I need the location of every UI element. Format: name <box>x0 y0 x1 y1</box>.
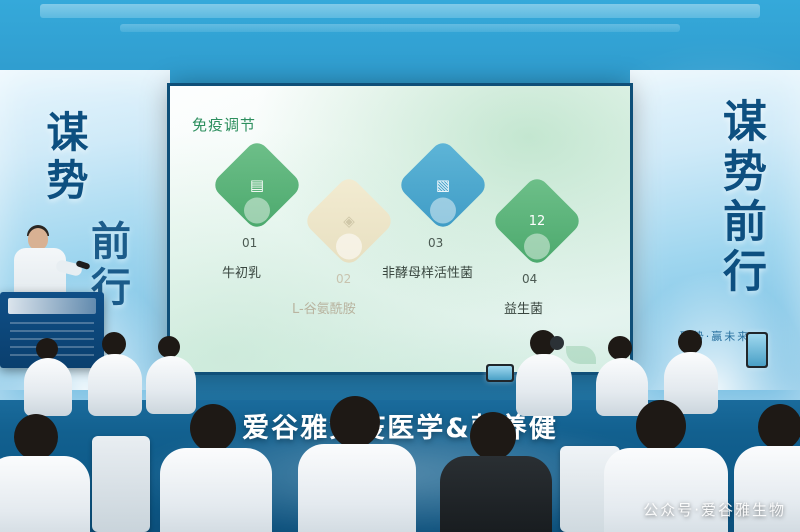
ceiling-light-strip-secondary <box>120 24 680 32</box>
person-head <box>158 336 180 358</box>
slide-item-04-number: 04 <box>522 272 537 286</box>
slide-item-01-number: 01 <box>242 236 257 250</box>
slide-item-02-number: 02 <box>336 272 351 286</box>
person-head <box>758 404 800 450</box>
person-body <box>516 354 572 416</box>
person-body <box>0 456 90 532</box>
person-head <box>470 412 516 460</box>
person-body <box>146 356 196 414</box>
phone-screen <box>748 334 766 366</box>
slide-item-02-diamond: ◈ <box>302 174 395 267</box>
slide-item-03-number: 03 <box>428 236 443 250</box>
slide-item-04-diamond: 12 <box>490 174 583 267</box>
person-head <box>608 336 632 360</box>
person-body <box>160 448 272 532</box>
person-head <box>190 404 236 452</box>
podium-logo <box>8 298 96 314</box>
smartphone <box>746 332 768 368</box>
presentation-screen: 免疫调节 ▤ 01 牛初乳 ◈ 02 L-谷氨酰胺 ▧ 03 非酵母样活性菌 <box>170 86 630 372</box>
panel-right-subline: 聚势·赢未来 <box>630 328 800 344</box>
chair <box>92 436 150 532</box>
panel-left-headline: 谋势 <box>34 110 95 206</box>
headset-icon <box>550 336 564 350</box>
document-icon: ▤ <box>224 152 290 218</box>
microbe-icon: ▧ <box>410 152 476 218</box>
smartphone-raised <box>486 364 514 382</box>
person-body <box>596 358 648 416</box>
slide-item-04-label: 益生菌 <box>504 298 543 317</box>
conference-photo: 谋势 前行 谋势前行 聚势·赢未来 免疫调节 ▤ 01 牛初乳 ◈ 02 L-谷… <box>0 0 800 532</box>
panel-right-headline: 谋势前行 <box>708 98 772 298</box>
slide-item-03-label: 非酵母样活性菌 <box>382 262 473 281</box>
slide-item-01-label: 牛初乳 <box>222 262 261 281</box>
slide-icon-row: ▤ 01 牛初乳 ◈ 02 L-谷氨酰胺 ▧ 03 非酵母样活性菌 12 <box>170 142 630 272</box>
slide-title: 免疫调节 <box>192 114 256 135</box>
calendar-icon: 12 <box>504 188 570 254</box>
slide-item-03-diamond: ▧ <box>396 138 489 231</box>
slide-item-02-label: L-谷氨酰胺 <box>292 298 356 317</box>
person-head <box>636 400 686 452</box>
person-body <box>440 456 552 532</box>
person-body <box>298 444 416 532</box>
person-head <box>678 330 702 354</box>
molecule-icon: ◈ <box>316 188 382 254</box>
ceiling-light-strip <box>40 4 760 18</box>
speaker-head <box>28 228 48 250</box>
person-head <box>14 414 58 460</box>
person-head <box>36 338 58 360</box>
phone-screen <box>488 366 512 380</box>
person-head <box>102 332 126 356</box>
person-head <box>330 396 380 448</box>
watermark: 公众号·爱谷雅生物 <box>643 499 786 520</box>
person-body <box>24 358 72 416</box>
slide-item-01-diamond: ▤ <box>210 138 303 231</box>
person-body <box>88 354 142 416</box>
decor-panel-right: 谋势前行 聚势·赢未来 <box>630 70 800 400</box>
